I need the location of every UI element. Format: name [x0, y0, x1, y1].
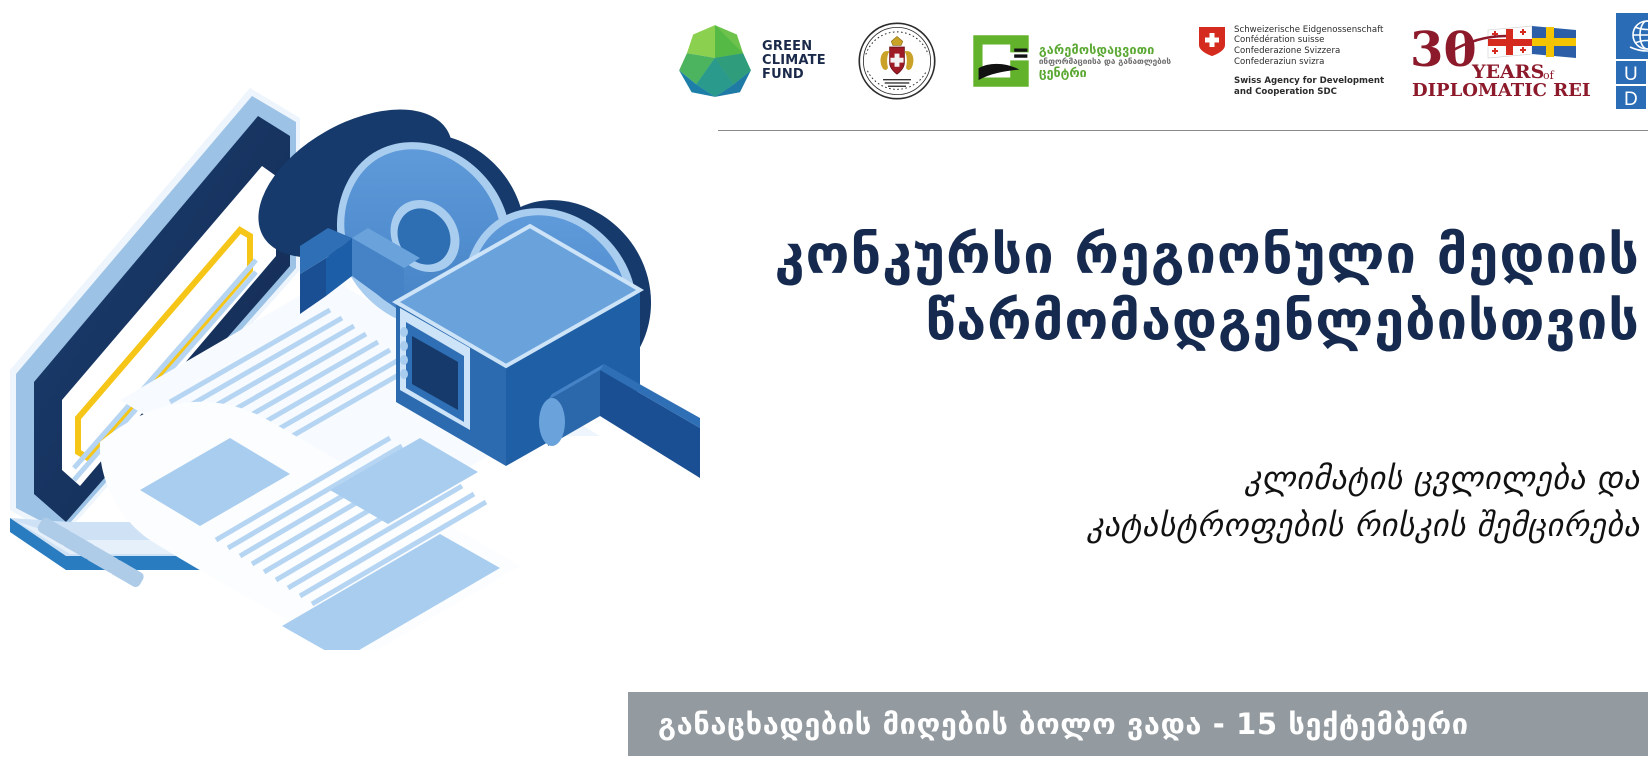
- page-title: კონკურსი რეგიონული მედიის წარმომადგენლებ…: [640, 222, 1640, 354]
- green-centre-wordmark: გარემოსდაცვითი ინფორმაციისა და განათლები…: [1039, 43, 1171, 80]
- thirty-number: 30: [1410, 22, 1477, 78]
- diplomatic-relations-label: DIPLOMATIC RELATIONS: [1412, 80, 1590, 100]
- swiss-wordmark: Schweizerische Eidgenossenschaft Confédé…: [1234, 25, 1384, 98]
- national-environmental-agency-seal-icon: [856, 20, 938, 102]
- page-subtitle-line-2: კატასტროფების რისკის შემცირება: [700, 502, 1640, 549]
- green-climate-fund-logo: GREEN CLIMATE FUND: [676, 22, 826, 100]
- georgia-seal-logo: [856, 20, 938, 102]
- page-title-line-1: კონკურსი რეგიონული მედიის: [774, 223, 1640, 286]
- undp-letter-d: D: [1624, 89, 1638, 109]
- environmental-info-centre-logo: გარემოსდაცვითი ინფორმაციისა და განათლები…: [968, 30, 1171, 92]
- deadline-banner: განაცხადების მიღების ბოლო ვადა - 15 სექტ…: [628, 692, 1648, 756]
- page-subtitle-line-1: კლიმატის ცვლილება და: [1245, 459, 1640, 497]
- undp-logo: U N D P: [1616, 13, 1648, 109]
- page-subtitle: კლიმატის ცვლილება და კატასტროფების რისკი…: [700, 455, 1640, 549]
- thirty-years-diplomatic-relations-logo: 30 YEARS of DIPLOMATIC: [1410, 22, 1590, 100]
- page-title-line-2: წარმომადგენლებისთვის: [640, 288, 1640, 354]
- deadline-banner-text: განაცხადების მიღების ბოლო ვადა - 15 სექტ…: [628, 707, 1469, 741]
- undp-letter-u: U: [1624, 64, 1638, 85]
- undp-icon: U N D P: [1616, 13, 1648, 109]
- swiss-cross-icon: [1197, 25, 1227, 57]
- green-centre-icon: [968, 30, 1034, 92]
- partner-logo-strip: GREEN CLIMATE FUND: [676, 8, 1648, 114]
- media-illustration: [0, 70, 700, 650]
- poster-root: GREEN CLIMATE FUND: [0, 0, 1648, 768]
- gcf-wordmark: GREEN CLIMATE FUND: [762, 40, 826, 82]
- swiss-sdc-logo: Schweizerische Eidgenossenschaft Confédé…: [1197, 25, 1384, 98]
- thirty-years-icon: 30 YEARS of DIPLOMATIC: [1410, 22, 1590, 100]
- header-divider: [718, 130, 1648, 131]
- gcf-sphere-icon: [676, 22, 754, 100]
